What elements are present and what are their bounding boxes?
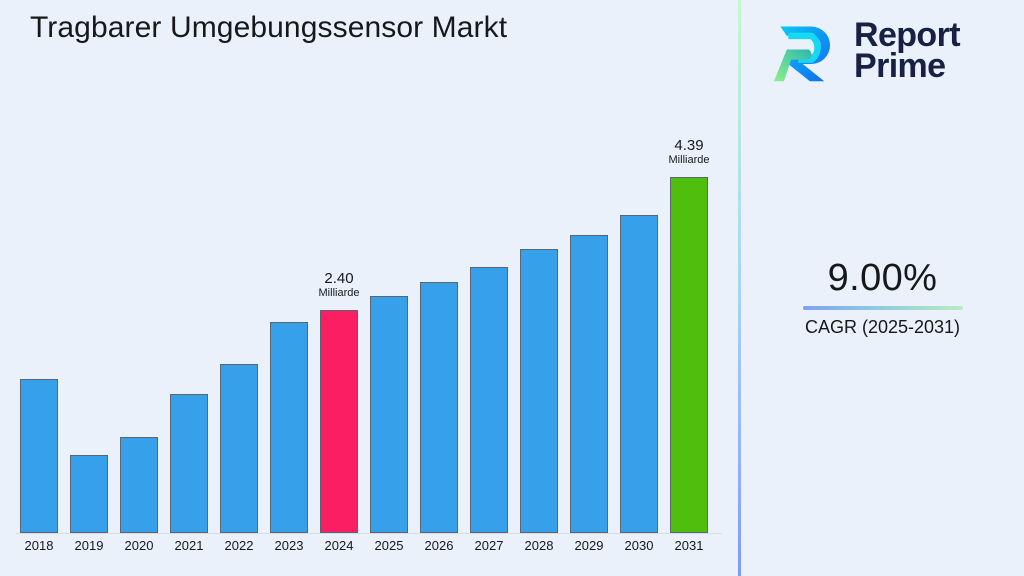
brand-wordmark: Report Prime <box>854 20 960 83</box>
bar-2021 <box>170 394 208 533</box>
x-axis-line <box>16 533 722 534</box>
x-tick-2027: 2027 <box>464 538 514 553</box>
bar-2020 <box>120 437 158 533</box>
x-tick-2030: 2030 <box>614 538 664 553</box>
side-panel: Report Prime 9.00% CAGR (2025-2031) <box>741 0 1024 576</box>
x-tick-2020: 2020 <box>114 538 164 553</box>
brand-line-2: Prime <box>854 51 960 82</box>
bar-2026 <box>420 282 458 533</box>
bar-2022 <box>220 364 258 533</box>
report-prime-logo-icon <box>771 15 843 87</box>
bar-2018 <box>20 379 58 533</box>
bar-2027 <box>470 267 508 533</box>
x-tick-2019: 2019 <box>64 538 114 553</box>
cagr-value: 9.00% <box>741 255 1024 301</box>
x-tick-2029: 2029 <box>564 538 614 553</box>
plot-area: 2.40Milliarde4.39Milliarde 2018201920202… <box>0 0 738 576</box>
x-tick-2022: 2022 <box>214 538 264 553</box>
x-tick-2021: 2021 <box>164 538 214 553</box>
bar-value-label-2024: 2.40Milliarde <box>294 270 384 300</box>
brand-logo[interactable]: Report Prime <box>771 12 1001 90</box>
bar-2024 <box>320 310 358 533</box>
bar-value-number-2024: 2.40 <box>324 270 353 287</box>
x-tick-2024: 2024 <box>314 538 364 553</box>
x-tick-2031: 2031 <box>664 538 714 553</box>
bar-value-label-2031: 4.39Milliarde <box>644 137 734 167</box>
bar-2028 <box>520 249 558 533</box>
bar-2025 <box>370 296 408 533</box>
bar-2023 <box>270 322 308 533</box>
chart-panel: Tragbarer Umgebungssensor Markt 2.40Mill… <box>0 0 738 576</box>
infographic-root: Tragbarer Umgebungssensor Markt 2.40Mill… <box>0 0 1024 576</box>
cagr-label: CAGR (2025-2031) <box>741 316 1024 338</box>
bar-value-unit-2024: Milliarde <box>294 287 384 300</box>
cagr-block: 9.00% CAGR (2025-2031) <box>741 255 1024 338</box>
bar-2019 <box>70 455 108 533</box>
bar-2031 <box>670 177 708 533</box>
bar-2030 <box>620 215 658 533</box>
x-tick-2026: 2026 <box>414 538 464 553</box>
cagr-divider-rule <box>803 306 963 310</box>
x-tick-2028: 2028 <box>514 538 564 553</box>
x-tick-2018: 2018 <box>14 538 64 553</box>
bar-value-unit-2031: Milliarde <box>644 154 734 167</box>
x-tick-2023: 2023 <box>264 538 314 553</box>
bar-2029 <box>570 235 608 533</box>
x-tick-2025: 2025 <box>364 538 414 553</box>
bar-value-number-2031: 4.39 <box>674 137 703 154</box>
